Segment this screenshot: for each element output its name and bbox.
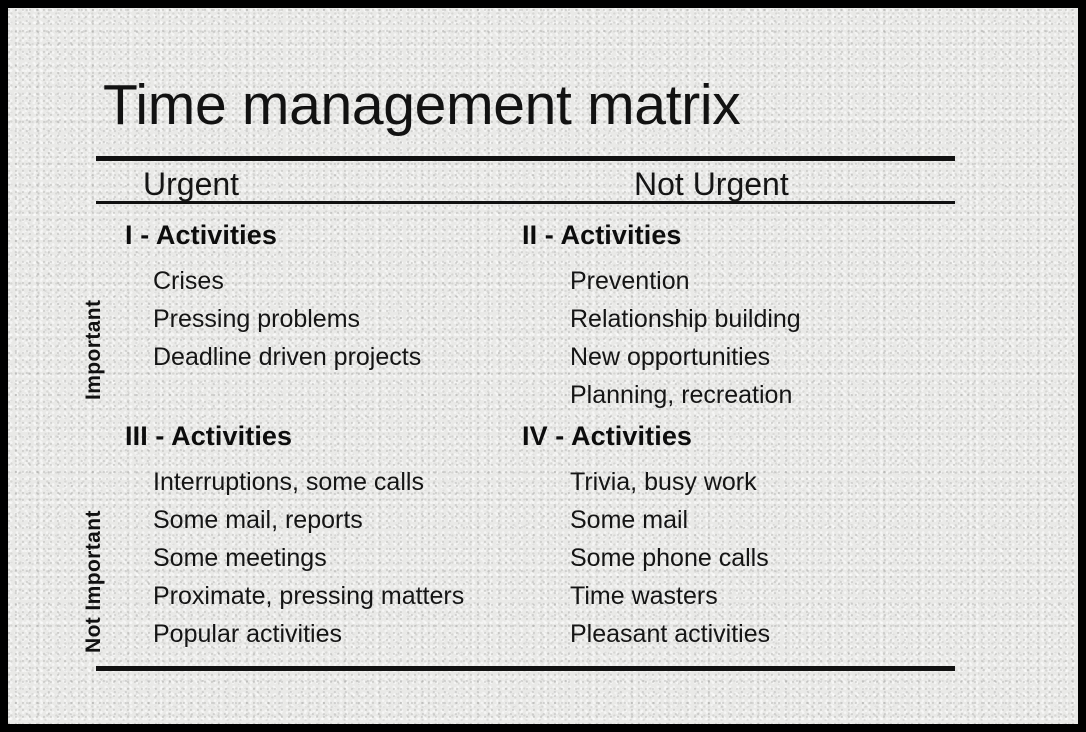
quadrant-3-heading: III - Activities	[125, 421, 464, 452]
list-item: Time wasters	[570, 577, 770, 615]
list-item: Popular activities	[153, 615, 464, 653]
list-item: Deadline driven projects	[153, 338, 421, 376]
column-header-urgent: Urgent	[143, 166, 239, 203]
list-item: Some mail	[570, 501, 770, 539]
list-item: Crises	[153, 262, 421, 300]
quadrant-2-heading: II - Activities	[522, 220, 801, 251]
row-label-not-important: Not Important	[82, 510, 106, 653]
quadrant-3: III - Activities Interruptions, some cal…	[125, 421, 464, 653]
column-header-not-urgent: Not Urgent	[634, 166, 789, 203]
slide-paper: Time management matrix Urgent Not Urgent…	[8, 8, 1078, 724]
quadrant-2-list: Prevention Relationship building New opp…	[522, 262, 801, 414]
list-item: Pleasant activities	[570, 615, 770, 653]
list-item: Some phone calls	[570, 539, 770, 577]
matrix-top-rule	[96, 156, 955, 161]
list-item: Some meetings	[153, 539, 464, 577]
quadrant-4-heading: IV - Activities	[522, 421, 770, 452]
quadrant-4: IV - Activities Trivia, busy work Some m…	[522, 421, 770, 653]
list-item: New opportunities	[570, 338, 801, 376]
list-item: Relationship building	[570, 300, 801, 338]
quadrant-1-list: Crises Pressing problems Deadline driven…	[125, 262, 421, 376]
list-item: Proximate, pressing matters	[153, 577, 464, 615]
quadrant-1-heading: I - Activities	[125, 220, 421, 251]
row-label-important: Important	[82, 300, 106, 400]
slide-canvas: Time management matrix Urgent Not Urgent…	[0, 0, 1086, 732]
list-item: Interruptions, some calls	[153, 463, 464, 501]
matrix-bottom-rule	[96, 666, 955, 671]
quadrant-1: I - Activities Crises Pressing problems …	[125, 220, 421, 376]
list-item: Trivia, busy work	[570, 463, 770, 501]
page-title: Time management matrix	[103, 72, 741, 138]
list-item: Prevention	[570, 262, 801, 300]
quadrant-2: II - Activities Prevention Relationship …	[522, 220, 801, 414]
list-item: Planning, recreation	[570, 376, 801, 414]
list-item: Pressing problems	[153, 300, 421, 338]
list-item: Some mail, reports	[153, 501, 464, 539]
quadrant-3-list: Interruptions, some calls Some mail, rep…	[125, 463, 464, 653]
quadrant-4-list: Trivia, busy work Some mail Some phone c…	[522, 463, 770, 653]
